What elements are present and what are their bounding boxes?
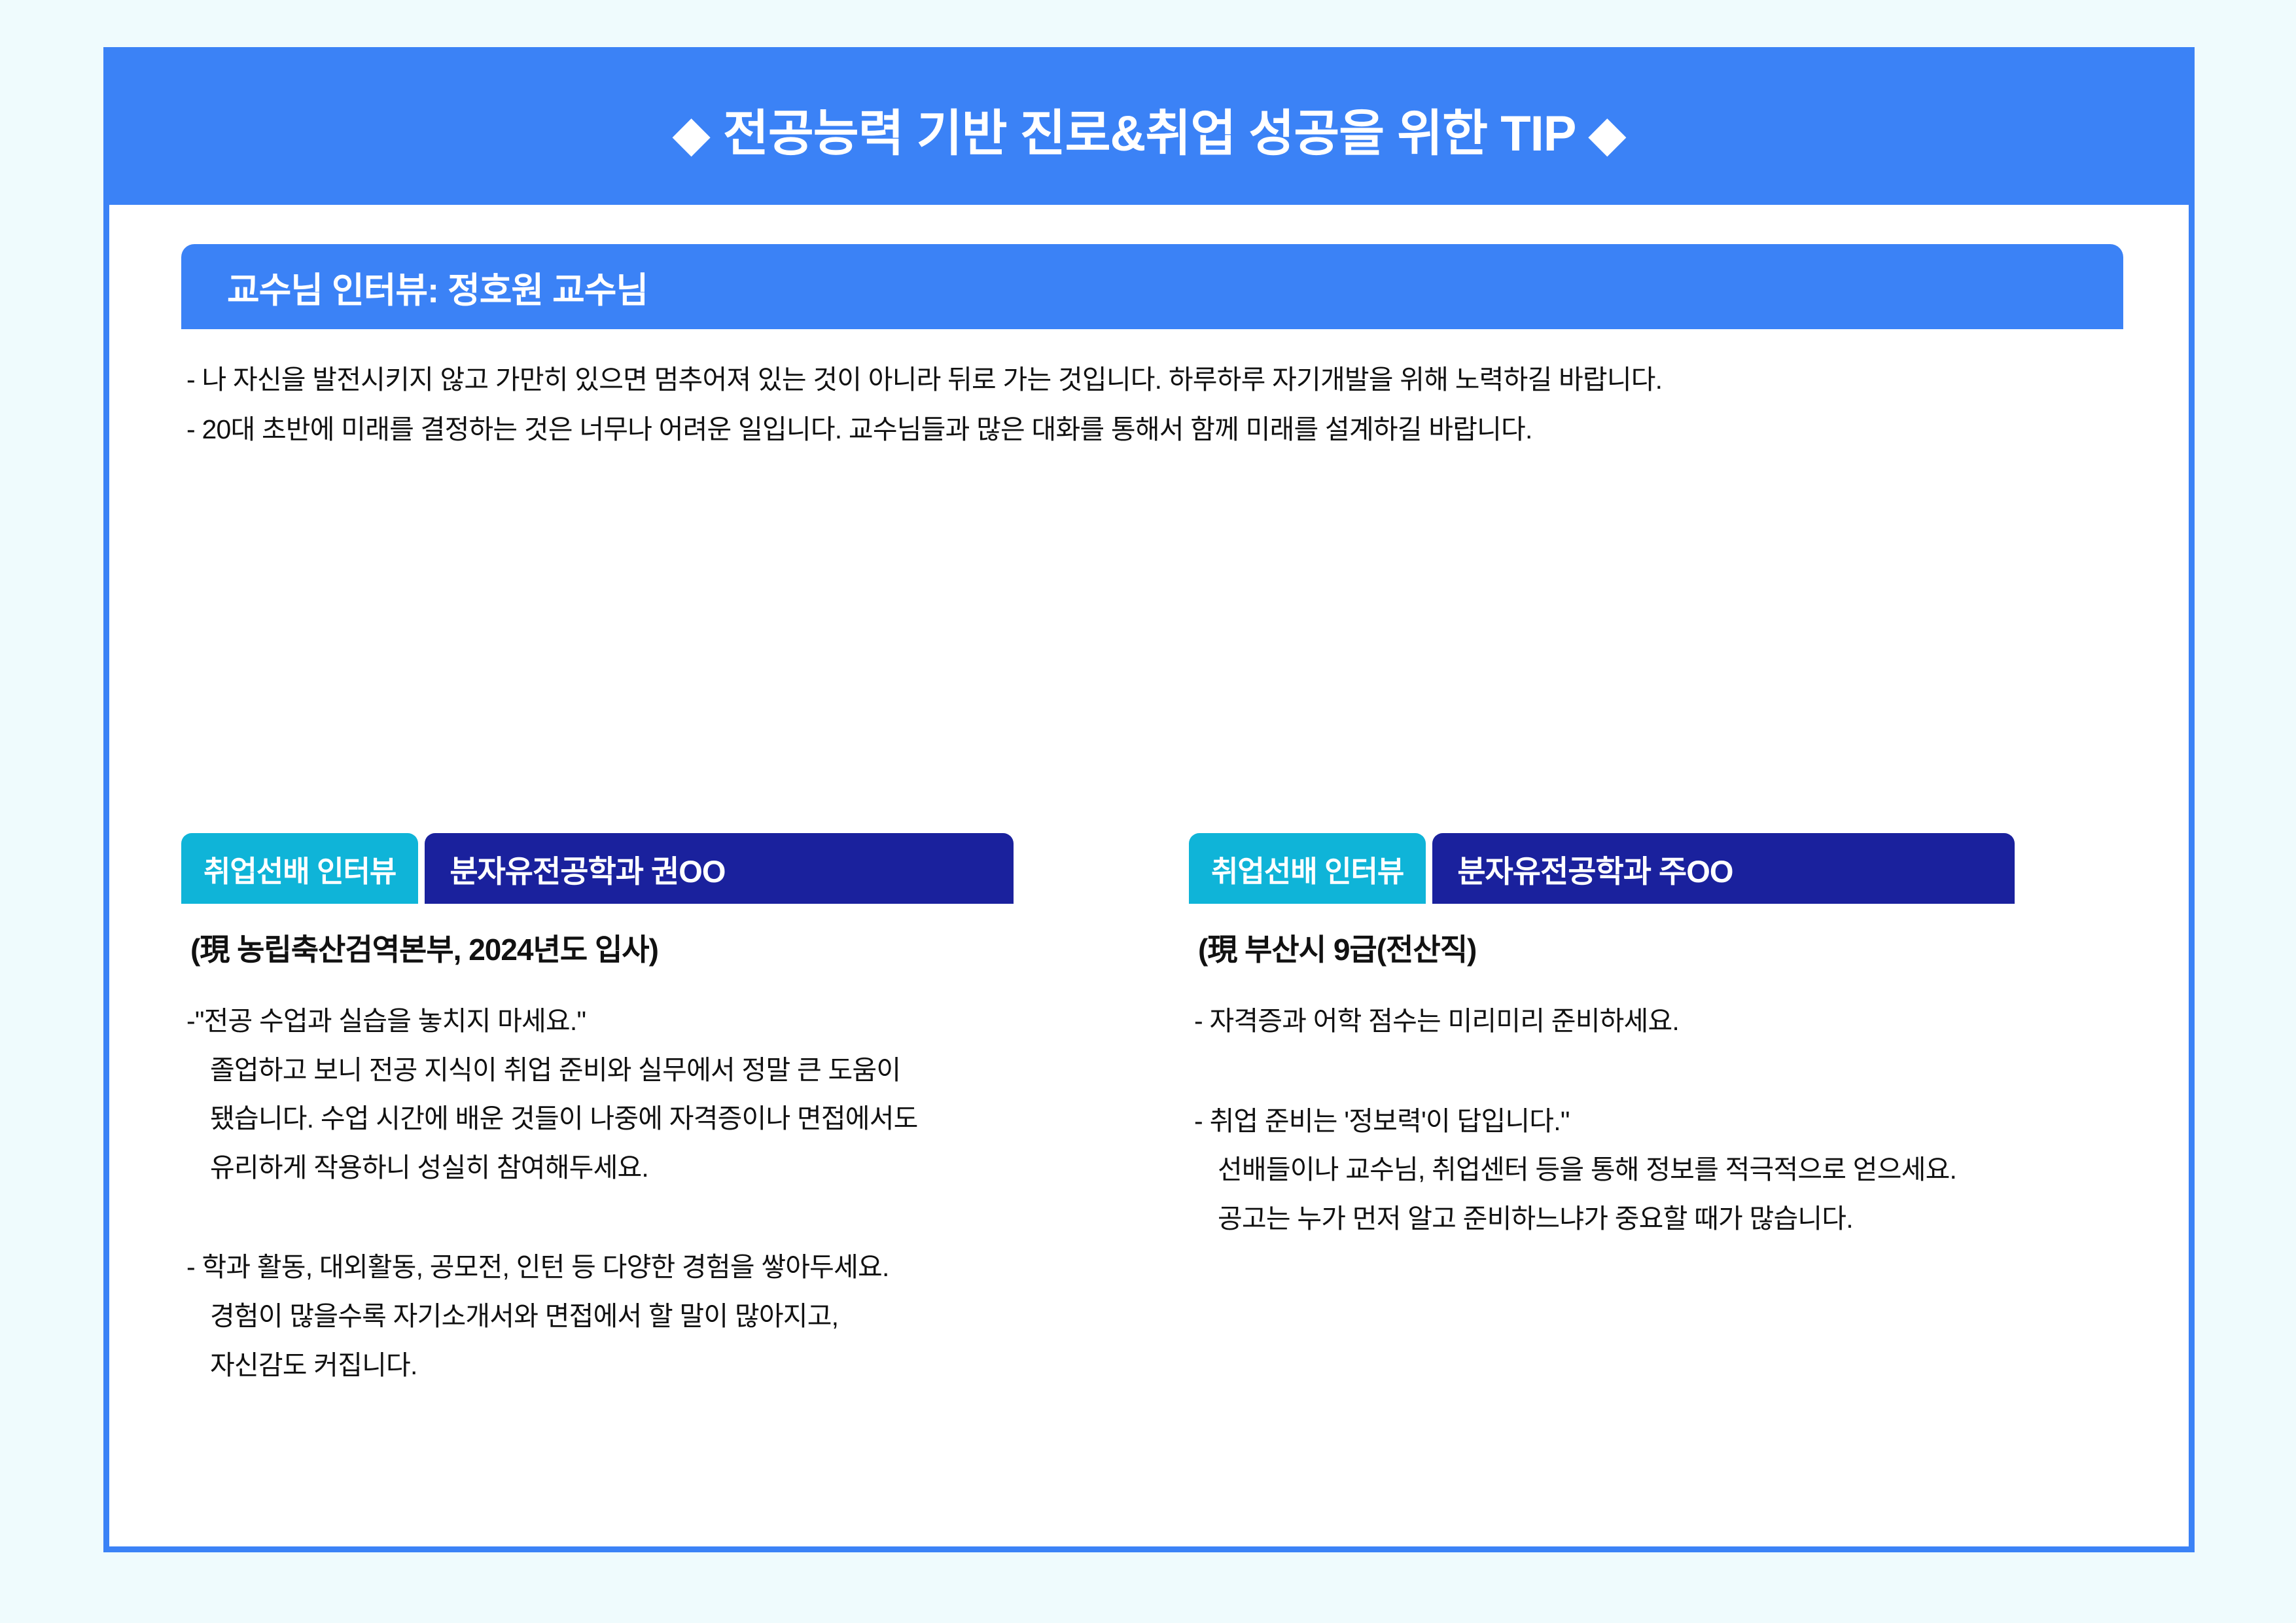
professor-line: - 나 자신을 발전시키지 않고 가만히 있으면 멈추어져 있는 것이 아니라 … — [186, 355, 2084, 405]
professor-interview-label: 교수님 인터뷰: 정호원 교수님 — [227, 261, 648, 313]
quote-line: -"전공 수업과 실습을 놓치지 마세요." — [186, 997, 1163, 1046]
senior-quote-block: - 자격증과 어학 점수는 미리미리 준비하세요. — [1194, 997, 2157, 1046]
senior-affiliation: (現 부산시 9급(전산직) — [1198, 926, 2157, 969]
senior-name-badge: 분자유전공학과 권OO — [425, 833, 1014, 904]
senior-interview-left: 취업선배 인터뷰 분자유전공학과 권OO (現 농립축산검역본부, 2024년도… — [181, 833, 1163, 1389]
tip-card: ◆ 전공능력 기반 진로&취업 성공을 위한 TIP ◆ 교수님 인터뷰: 정호… — [103, 47, 2195, 1552]
senior-interview-right: 취업선배 인터뷰 분자유전공학과 주OO (現 부산시 9급(전산직) - 자격… — [1189, 833, 2157, 1243]
quote-line: 경험이 많을수록 자기소개서와 면접에서 할 말이 많아지고, — [186, 1292, 1163, 1341]
senior-quote-block: -"전공 수업과 실습을 놓치지 마세요." 졸업하고 보니 전공 지식이 취업… — [186, 997, 1163, 1192]
page-title: ◆ 전공능력 기반 진로&취업 성공을 위한 TIP ◆ — [672, 93, 1625, 165]
quote-line: 유리하게 작용하니 성실히 참여해두세요. — [186, 1143, 1163, 1192]
senior-interview-badge: 취업선배 인터뷰 — [181, 833, 418, 904]
senior-affiliation: (現 농립축산검역본부, 2024년도 입사) — [190, 926, 1163, 969]
quote-line: 졸업하고 보니 전공 지식이 취업 준비와 실무에서 정말 큰 도움이 — [186, 1046, 1163, 1095]
quote-line: 됐습니다. 수업 시간에 배운 것들이 나중에 자격증이나 면접에서도 — [186, 1094, 1163, 1143]
senior-quote-block: - 취업 준비는 '정보력'이 답입니다." 선배들이나 교수님, 취업센터 등… — [1194, 1097, 2157, 1243]
quote-line: 자신감도 커집니다. — [186, 1341, 1163, 1390]
card-body: 교수님 인터뷰: 정호원 교수님 - 나 자신을 발전시키지 않고 가만히 있으… — [109, 205, 2189, 1546]
professor-line: - 20대 초반에 미래를 결정하는 것은 너무나 어려운 일입니다. 교수님들… — [186, 405, 2084, 455]
quote-line: 선배들이나 교수님, 취업센터 등을 통해 정보를 적극적으로 얻으세요. — [1194, 1145, 2157, 1194]
quote-line: 공고는 누가 먼저 알고 준비하느냐가 중요할 때가 많습니다. — [1194, 1194, 2157, 1243]
quote-line: - 취업 준비는 '정보력'이 답입니다." — [1194, 1097, 2157, 1146]
professor-interview-lines: - 나 자신을 발전시키지 않고 가만히 있으면 멈추어져 있는 것이 아니라 … — [186, 355, 2084, 455]
page-header: ◆ 전공능력 기반 진로&취업 성공을 위한 TIP ◆ — [109, 53, 2189, 205]
senior-badge-row: 취업선배 인터뷰 분자유전공학과 권OO — [181, 833, 1163, 904]
quote-line: - 자격증과 어학 점수는 미리미리 준비하세요. — [1194, 997, 2157, 1046]
senior-name-badge: 분자유전공학과 주OO — [1432, 833, 2015, 904]
quote-line: - 학과 활동, 대외활동, 공모전, 인턴 등 다양한 경험을 쌓아두세요. — [186, 1243, 1163, 1292]
senior-badge-row: 취업선배 인터뷰 분자유전공학과 주OO — [1189, 833, 2157, 904]
senior-quote-block: - 학과 활동, 대외활동, 공모전, 인턴 등 다양한 경험을 쌓아두세요. … — [186, 1243, 1163, 1389]
senior-interview-badge: 취업선배 인터뷰 — [1189, 833, 1426, 904]
professor-interview-header: 교수님 인터뷰: 정호원 교수님 — [181, 244, 2123, 329]
